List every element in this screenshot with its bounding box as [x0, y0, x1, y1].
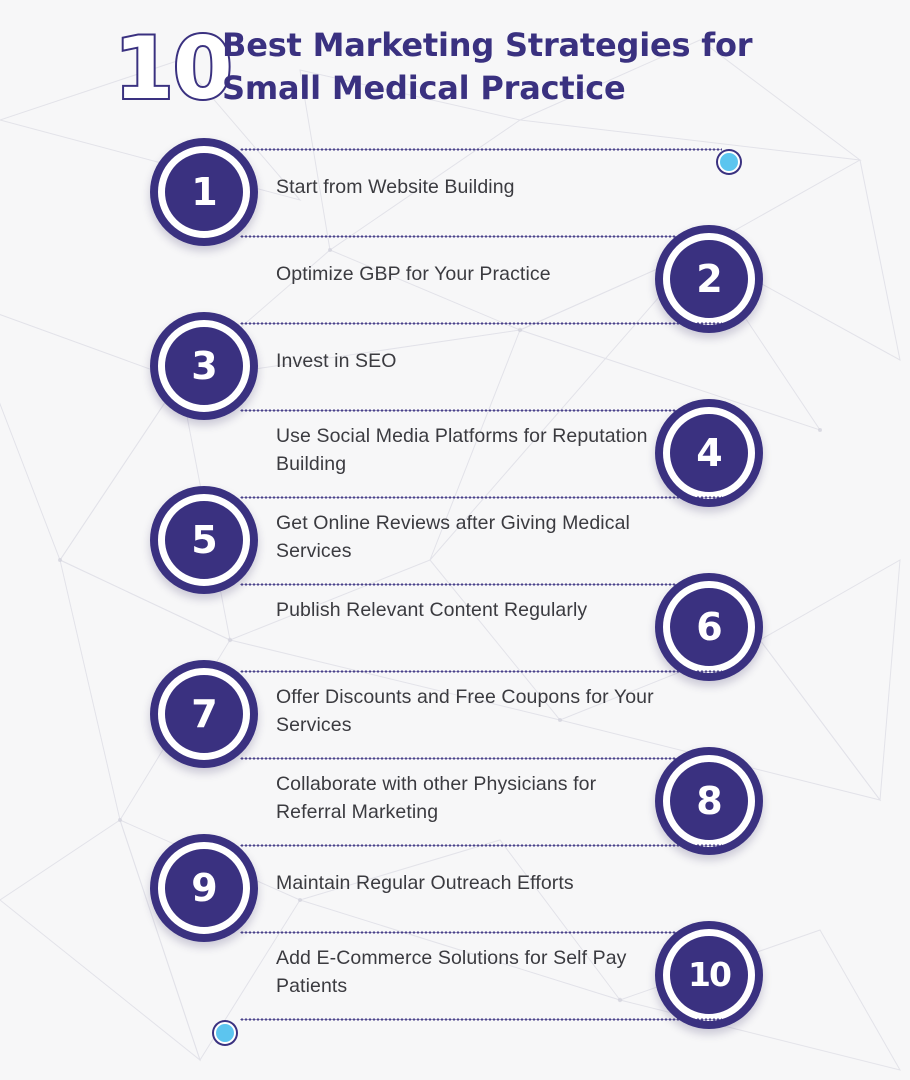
dotted-connector-line: [240, 235, 722, 238]
step-number: 10: [688, 958, 730, 991]
step-label: Add E-Commerce Solutions for Self Pay Pa…: [276, 945, 656, 1000]
step-label: Start from Website Building: [276, 174, 656, 202]
step-number-badge: 5: [150, 486, 258, 594]
step-row[interactable]: Start from Website Building1: [0, 148, 910, 235]
step-number-badge: 8: [655, 747, 763, 855]
step-row[interactable]: Optimize GBP for Your Practice2: [0, 235, 910, 322]
step-row[interactable]: Use Social Media Platforms for Reputatio…: [0, 409, 910, 496]
step-number-badge: 7: [150, 660, 258, 768]
step-row[interactable]: Add E-Commerce Solutions for Self Pay Pa…: [0, 931, 910, 1018]
step-number: 7: [191, 695, 216, 733]
step-number: 4: [696, 434, 721, 472]
dotted-connector-line: [240, 757, 722, 760]
page-title-line-2: Small Medical Practice: [222, 67, 822, 110]
step-row[interactable]: Get Online Reviews after Giving Medical …: [0, 496, 910, 583]
step-number-badge: 2: [655, 225, 763, 333]
step-number: 8: [696, 782, 721, 820]
step-number: 6: [696, 608, 721, 646]
step-label: Collaborate with other Physicians for Re…: [276, 771, 656, 826]
step-row[interactable]: Invest in SEO3: [0, 322, 910, 409]
header-number: 10: [114, 26, 232, 112]
connector-endpoint-bottom-icon: [214, 1022, 236, 1044]
page-title-line-1: Best Marketing Strategies for: [222, 24, 822, 67]
step-number: 9: [191, 869, 216, 907]
step-number-badge: 9: [150, 834, 258, 942]
step-label: Maintain Regular Outreach Efforts: [276, 870, 656, 898]
dotted-connector-line: [240, 409, 722, 412]
dotted-connector-line: [240, 148, 722, 151]
step-label: Offer Discounts and Free Coupons for You…: [276, 684, 656, 739]
dotted-connector-line: [240, 844, 722, 847]
step-label: Invest in SEO: [276, 348, 656, 376]
step-number-badge: 3: [150, 312, 258, 420]
dotted-connector-line: [240, 1018, 722, 1021]
step-number: 3: [191, 347, 216, 385]
step-label: Use Social Media Platforms for Reputatio…: [276, 423, 656, 478]
page-title: Best Marketing Strategies for Small Medi…: [222, 24, 822, 109]
dotted-connector-line: [240, 322, 722, 325]
dotted-connector-line: [240, 583, 722, 586]
step-row[interactable]: Offer Discounts and Free Coupons for You…: [0, 670, 910, 757]
dotted-connector-line: [240, 931, 722, 934]
step-label: Publish Relevant Content Regularly: [276, 597, 656, 625]
dotted-connector-line: [240, 496, 722, 499]
step-number: 5: [191, 521, 216, 559]
connector-endpoint-top-icon: [718, 151, 740, 173]
step-row[interactable]: Collaborate with other Physicians for Re…: [0, 757, 910, 844]
step-number-badge: 10: [655, 921, 763, 1029]
step-number-badge: 4: [655, 399, 763, 507]
step-number-badge: 6: [655, 573, 763, 681]
step-label: Get Online Reviews after Giving Medical …: [276, 510, 656, 565]
step-row[interactable]: Maintain Regular Outreach Efforts9: [0, 844, 910, 931]
page-header: 10 Best Marketing Strategies for Small M…: [0, 22, 910, 132]
steps-list: Start from Website Building1Optimize GBP…: [0, 148, 910, 1058]
step-number: 1: [191, 173, 216, 211]
step-label: Optimize GBP for Your Practice: [276, 261, 656, 289]
step-number-badge: 1: [150, 138, 258, 246]
step-number: 2: [696, 260, 721, 298]
step-row[interactable]: Publish Relevant Content Regularly6: [0, 583, 910, 670]
dotted-connector-line: [240, 670, 722, 673]
